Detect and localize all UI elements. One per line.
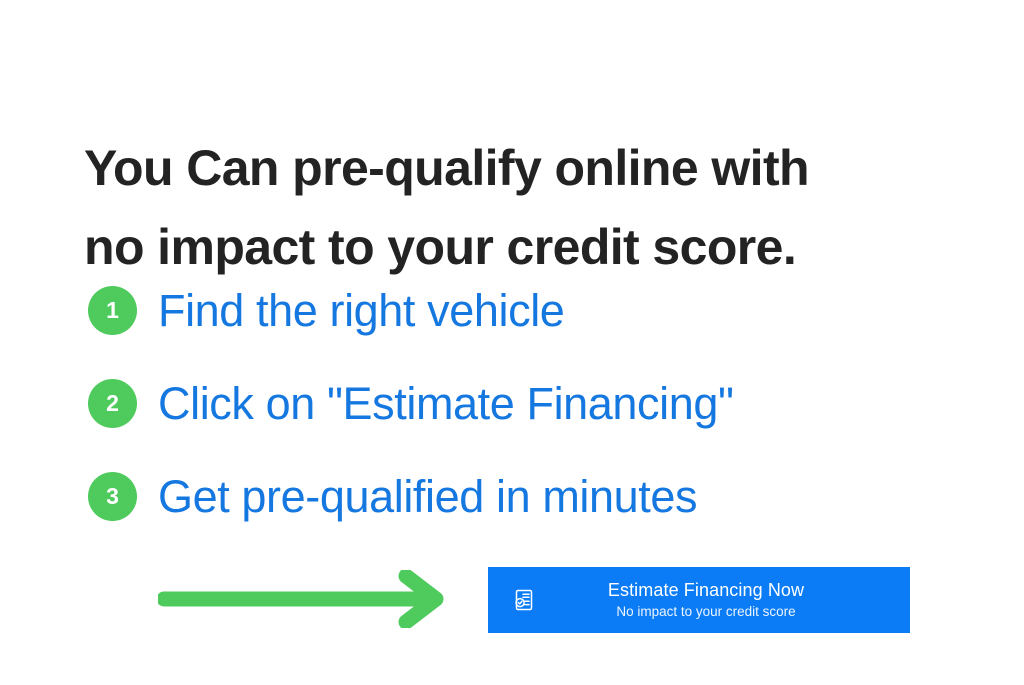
step-number-badge: 2 xyxy=(88,379,137,428)
estimate-financing-button[interactable]: Estimate Financing Now No impact to your… xyxy=(488,567,910,633)
cta-label-group: Estimate Financing Now No impact to your… xyxy=(560,579,910,622)
arrow-right-icon xyxy=(158,570,450,628)
step-label: Get pre-qualified in minutes xyxy=(158,474,697,519)
page-title: You Can pre-qualify online with no impac… xyxy=(84,129,944,287)
cta-title: Estimate Financing Now xyxy=(608,579,804,602)
step-number-badge: 3 xyxy=(88,472,137,521)
cta-subtitle: No impact to your credit score xyxy=(616,603,795,621)
list-item: 1 Find the right vehicle xyxy=(88,281,948,339)
step-label: Click on "Estimate Financing" xyxy=(158,381,734,426)
list-item: 2 Click on "Estimate Financing" xyxy=(88,374,948,432)
step-number-badge: 1 xyxy=(88,286,137,335)
list-item: 3 Get pre-qualified in minutes xyxy=(88,467,948,525)
steps-list: 1 Find the right vehicle 2 Click on "Est… xyxy=(88,281,948,525)
promo-banner: You Can pre-qualify online with no impac… xyxy=(0,0,1024,685)
document-check-icon xyxy=(488,587,560,613)
step-label: Find the right vehicle xyxy=(158,288,564,333)
